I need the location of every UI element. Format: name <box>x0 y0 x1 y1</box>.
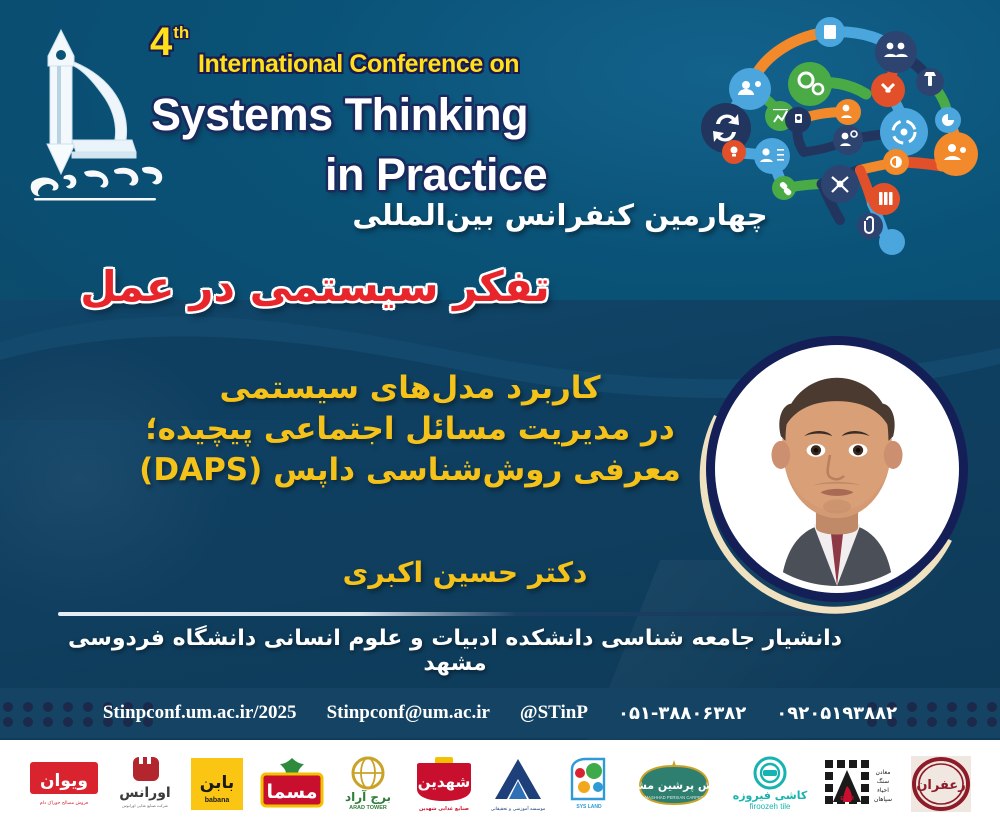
sponsor-logo-persian-carpet: نقش پرشین مشهد MASHHAD PERSIAN CARPET <box>630 753 718 815</box>
svg-text:سپاهان: سپاهان <box>874 796 892 803</box>
conference-email[interactable]: Stinpconf@um.ac.ir <box>327 702 490 724</box>
talk-title-line-2: در مدیریت مسائل اجتماعی پیچیده؛ <box>130 409 690 450</box>
speaker-portrait <box>706 336 972 608</box>
speaker-affiliation: دانشیار جامعه شناسی دانشکده ادبیات و علو… <box>40 626 870 676</box>
sponsor-logo-strip: ویوان فروش مصالح خوراک دام اورانس شرکت ص… <box>0 740 1000 828</box>
node-icon-award <box>795 114 802 123</box>
speaker-name: دکتر حسین اکبری <box>240 556 690 589</box>
social-handle[interactable]: @STinP <box>520 702 588 724</box>
conference-poster: 4 th International Conference on Systems… <box>0 0 1000 828</box>
svg-text:شرکت صنایع غذایی اورانوس: شرکت صنایع غذایی اورانوس <box>122 803 168 808</box>
phone-mobile[interactable]: ۰۹۲۰۵۱۹۳۸۸۲ <box>776 703 897 724</box>
talk-title-block: کاربرد مدل‌های سیستمی در مدیریت مسائل اج… <box>130 368 690 492</box>
ordinal-number: 4 <box>150 22 171 62</box>
svg-text:بابن: بابن <box>200 773 234 793</box>
phone-landline[interactable]: ۰۵۱-۳۸۸۰۶۳۸۲ <box>618 703 746 724</box>
talk-title-line-3: معرفی روش‌شناسی داپس (DAPS) <box>130 450 690 491</box>
brain-network-graphic <box>680 0 1000 264</box>
sponsor-logo-training-institute: موسسه آموزشی و تحقیقاتی <box>489 753 547 815</box>
portrait-ring <box>706 336 968 602</box>
sponsor-logo-firoozeh-tile: کاشی فیروزه firoozeh tile <box>731 753 809 815</box>
sponsor-logo-oranos: اورانس شرکت صنایع غذایی اورانوس <box>113 753 177 815</box>
svg-text:firoozeh tile: firoozeh tile <box>749 802 790 811</box>
svg-text:کاشی فیروزه: کاشی فیروزه <box>733 789 808 802</box>
conference-website[interactable]: Stinpconf.um.ac.ir/2025 <box>103 702 297 724</box>
sponsor-logo-saffron-tebi: زعفران <box>910 753 972 815</box>
title-line-2: in Practice <box>325 149 547 201</box>
svg-text:ویوان: ویوان <box>40 771 88 791</box>
sponsor-logo-babana: بابن babana <box>189 753 245 815</box>
svg-text:زعفران: زعفران <box>916 778 965 793</box>
svg-text:E.L.M: E.L.M <box>841 796 854 802</box>
svg-text:MASHHAD PERSIAN CARPET: MASHHAD PERSIAN CARPET <box>645 795 704 800</box>
svg-text:SYS LAND: SYS LAND <box>576 804 602 810</box>
talk-title-line-1: کاربرد مدل‌های سیستمی <box>130 368 690 409</box>
node-icon-books <box>879 192 893 205</box>
portrait-inner-ring <box>715 345 959 593</box>
svg-text:اورانس: اورانس <box>119 785 170 801</box>
title-line-1: Systems Thinking <box>151 89 528 141</box>
svg-text:ARAD TOWER: ARAD TOWER <box>349 805 387 811</box>
svg-text:معادن: معادن <box>876 769 891 776</box>
svg-text:babana: babana <box>205 797 230 804</box>
sponsor-logo-vivan: ویوان فروش مصالح خوراک دام <box>28 753 100 815</box>
ordinal-suffix: th <box>173 24 189 41</box>
contact-bar: Stinpconf.um.ac.ir/2025 Stinpconf@um.ac.… <box>0 688 1000 738</box>
node-icon-document <box>824 25 836 39</box>
svg-text:فروش مصالح خوراک دام: فروش مصالح خوراک دام <box>40 799 88 806</box>
sponsor-logo-arad-tower: برج آراد ARAD TOWER <box>338 753 398 815</box>
svg-text:موسسه آموزشی و تحقیقاتی: موسسه آموزشی و تحقیقاتی <box>491 806 546 812</box>
conference-line: International Conference on <box>198 50 519 79</box>
svg-text:شهدین: شهدین <box>417 773 469 791</box>
headline-block: 4 th International Conference on Systems… <box>150 22 680 62</box>
sponsor-logo-shahdin: شهدین صنایع غذایی شهدین <box>411 753 477 815</box>
svg-text:سنگ: سنگ <box>877 777 889 785</box>
sponsor-logo-mosamma: مسما <box>258 753 326 815</box>
svg-text:احیاء: احیاء <box>877 787 889 794</box>
speaker-photo <box>722 352 952 586</box>
sponsor-logo-elm: E.L.M معادن سنگ احیاء سپاهان <box>821 753 897 815</box>
sponsor-logo-sys-land: SYS LAND <box>560 753 618 815</box>
svg-text:برج آراد: برج آراد <box>345 789 391 804</box>
svg-text:نقش پرشین مشهد: نقش پرشین مشهد <box>630 779 718 792</box>
divider-rule <box>58 612 848 616</box>
persian-title: تفکر سیستمی در عمل <box>60 262 570 311</box>
svg-text:صنایع غذایی شهدین: صنایع غذایی شهدین <box>419 806 469 812</box>
svg-text:مسما: مسما <box>266 781 317 803</box>
